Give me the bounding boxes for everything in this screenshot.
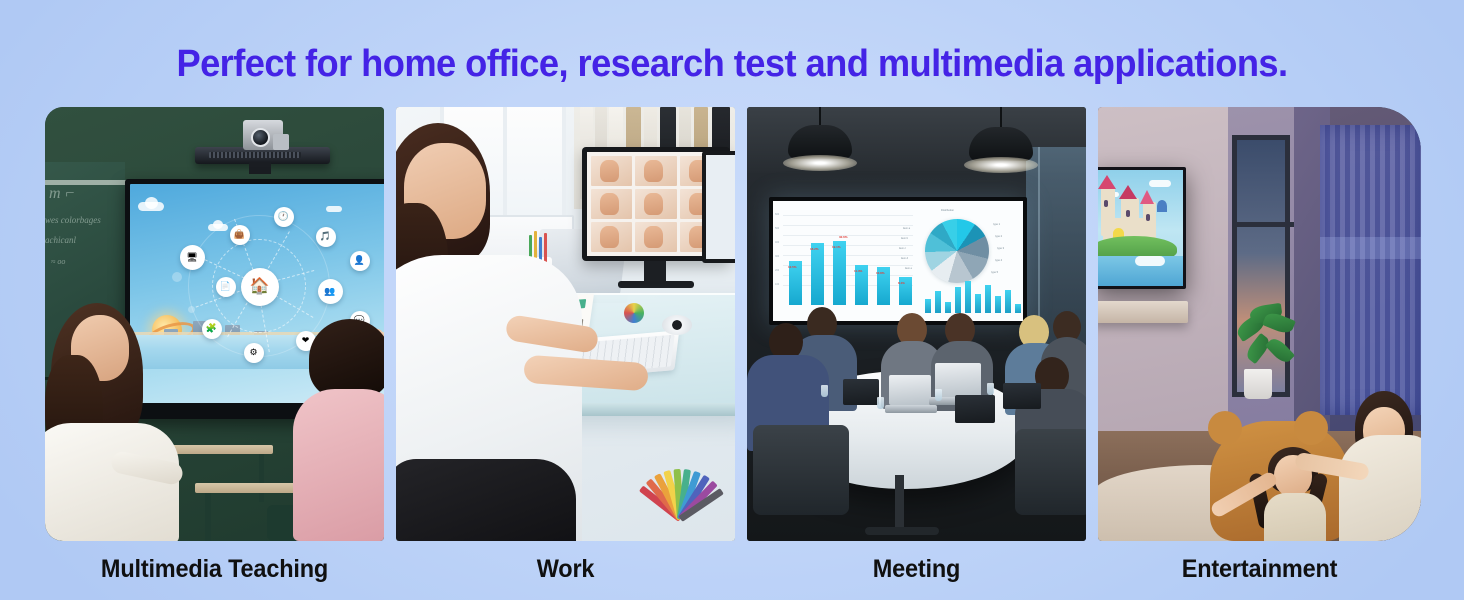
person-icon: 👤 [350, 251, 370, 271]
overalls [1264, 493, 1326, 541]
document-icon: 📄 [216, 277, 236, 297]
living-room-scene [1098, 107, 1421, 541]
scene-panel-meeting[interactable]: 600 500 400 300 200 100 12.5% 18.2% [747, 107, 1086, 541]
office-chair [753, 425, 849, 515]
display-screen: 600 500 400 300 200 100 12.5% 18.2% [773, 201, 1023, 321]
tape-dispenser [662, 315, 692, 335]
photo-thumbnail [635, 156, 676, 186]
curtain-band [1320, 237, 1421, 259]
panel-caption-work: Work [406, 552, 725, 586]
skirt [396, 459, 576, 541]
laptop-screen[interactable] [889, 375, 931, 405]
color-fan-deck [647, 459, 735, 519]
chalk-writing: achicanl [45, 235, 76, 245]
monitor-icon: 🖥 [180, 245, 205, 270]
presentation-display[interactable]: 600 500 400 300 200 100 12.5% 18.2% [769, 197, 1027, 325]
student-desk [161, 445, 273, 454]
photo-thumbnail [635, 222, 676, 252]
tv-console [1098, 301, 1188, 323]
classroom-scene: m ⌐ wes colorbages achicanl ≈ oo [45, 107, 384, 541]
panel-caption-meeting: Meeting [757, 552, 1076, 586]
laptop-base [885, 405, 937, 413]
mindmap-center-house-icon: 🏠 [241, 268, 279, 306]
scene-gallery: m ⌐ wes colorbages achicanl ≈ oo [45, 107, 1421, 541]
bar [833, 241, 846, 305]
camera-module [273, 134, 289, 150]
panel-caption-entertainment: Entertainment [1108, 552, 1412, 586]
bear-ear [1294, 411, 1328, 445]
bar [811, 243, 824, 305]
office-chair [1015, 429, 1086, 515]
curtain [1320, 125, 1421, 415]
scene-panel-work[interactable] [396, 107, 735, 541]
bag-icon: 👜 [230, 225, 250, 245]
scene-panel-entertainment[interactable] [1098, 107, 1421, 541]
tv-screen [1098, 170, 1183, 286]
photo-thumbnail [591, 156, 632, 186]
photo-thumbnail [591, 222, 632, 252]
chalk-writing: m ⌐ [49, 185, 75, 203]
tablet[interactable] [955, 395, 995, 423]
clock-icon: 🕐 [274, 207, 294, 227]
pie-chart [925, 219, 989, 283]
meeting-room-scene: 600 500 400 300 200 100 12.5% 18.2% [747, 107, 1086, 541]
group-icon: 🧩 [202, 319, 222, 339]
cloud-icon [326, 206, 342, 212]
second-monitor[interactable] [702, 151, 735, 263]
tablet[interactable] [1003, 383, 1041, 409]
scene-panel-multimedia-teaching[interactable]: m ⌐ wes colorbages achicanl ≈ oo [45, 107, 384, 541]
monitor-base [618, 281, 694, 288]
photo-thumbnail [635, 189, 676, 219]
promo-banner: Perfect for home office, research test a… [0, 0, 1464, 600]
camera-lens-icon [251, 128, 270, 147]
people-icon: 👥 [318, 279, 343, 304]
tablet[interactable] [843, 379, 879, 405]
table-base [865, 527, 939, 535]
table-leg [895, 475, 904, 527]
monitor-stand [644, 261, 666, 283]
cloud-icon [138, 202, 164, 211]
chalk-writing: ≈ oo [51, 257, 65, 266]
desk-toy-ball [624, 303, 644, 323]
share-icon: ⚙ [244, 343, 264, 363]
music-icon: 🎵 [316, 227, 336, 247]
page-title: Perfect for home office, research test a… [33, 40, 1431, 88]
bear-ear [1208, 411, 1242, 445]
chalk-writing: wes colorbages [45, 215, 101, 225]
wall-mounted-tv[interactable] [1098, 167, 1186, 289]
home-office-scene [396, 107, 735, 541]
camera-mount [249, 162, 271, 174]
panel-caption-multimedia-teaching: Multimedia Teaching [55, 552, 374, 586]
sweater [1339, 435, 1421, 541]
bubble-decor [172, 272, 182, 282]
plant-pot [1244, 369, 1272, 399]
photo-thumbnail [591, 189, 632, 219]
